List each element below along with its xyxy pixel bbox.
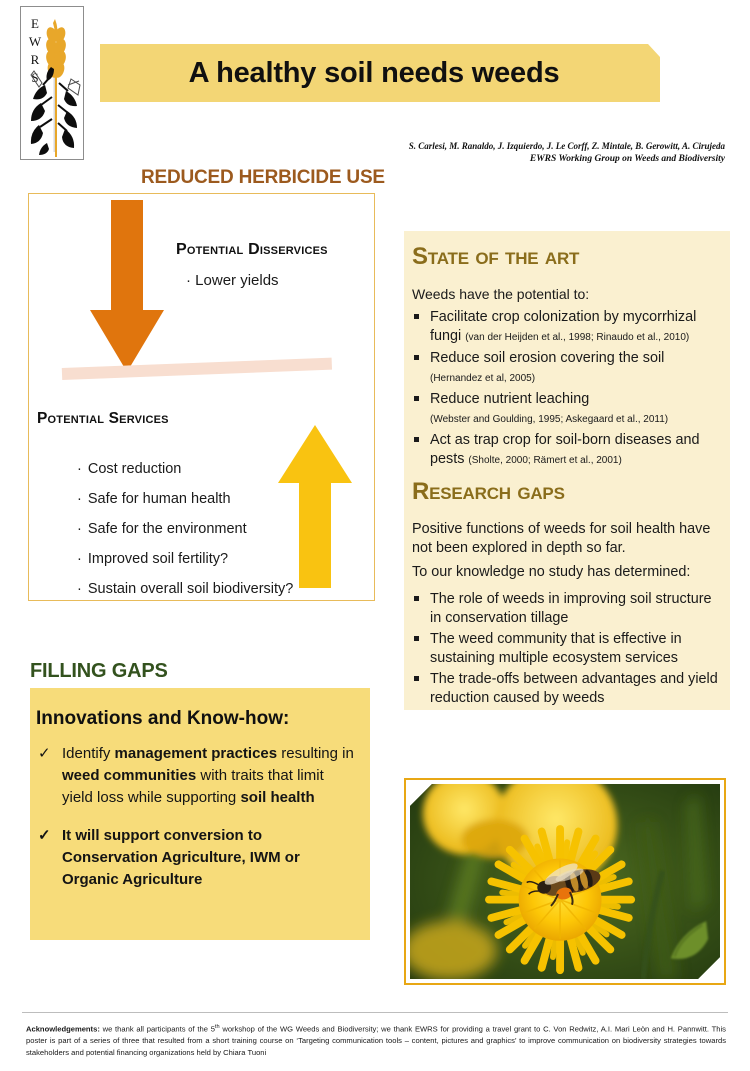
- square-bullet-icon: [414, 355, 419, 360]
- reduced-herbicide-heading: REDUCED HERBICIDE USE: [141, 167, 385, 189]
- check-icon: ✓: [38, 825, 51, 847]
- acknowledgements: Acknowledgements: we thank all participa…: [26, 1022, 726, 1058]
- bullet-dot: ·: [77, 581, 82, 597]
- bullet-dot: ·: [77, 551, 82, 567]
- service-text: Cost reduction: [88, 461, 182, 477]
- research-gaps-list: The role of weeds in improving soil stru…: [412, 590, 724, 710]
- bullet-dot: ·: [77, 491, 82, 507]
- state-of-the-art-list: Facilitate crop colonization by mycorrhi…: [412, 308, 724, 472]
- potential-services-title: Potential Services: [37, 410, 169, 428]
- author-names: S. Carlesi, M. Ranaldo, J. Izquierdo, J.…: [380, 140, 725, 153]
- bullet-dot: ·: [186, 272, 195, 289]
- list-item: The weed community that is effective in …: [412, 630, 724, 668]
- list-item: Act as trap crop for soil-born diseases …: [412, 431, 724, 470]
- square-bullet-icon: [414, 596, 419, 601]
- list-item: ✓ Identify management practices resultin…: [36, 743, 354, 809]
- item-text: The trade-offs between advantages and yi…: [430, 671, 718, 706]
- dandelion-photo: [410, 784, 720, 979]
- item-text: It will support conversion to Conservati…: [62, 827, 300, 888]
- list-item: Reduce soil erosion covering the soil(He…: [412, 349, 724, 388]
- square-bullet-icon: [414, 676, 419, 681]
- item-text: Reduce soil erosion covering the soil: [430, 350, 664, 366]
- ewrs-logo: E W R S: [20, 6, 84, 160]
- poster-root: E W R S: [0, 0, 750, 1071]
- item-text: The role of weeds in improving soil stru…: [430, 591, 712, 626]
- square-bullet-icon: [414, 396, 419, 401]
- filling-gaps-heading: FILLING GAPS: [30, 660, 168, 683]
- footer-divider: [22, 1012, 728, 1013]
- item-text: Reduce nutrient leaching: [430, 391, 589, 407]
- item-citation: (Webster and Goulding, 1995; Askegaard e…: [430, 414, 668, 425]
- page-title: A healthy soil needs weeds: [100, 44, 648, 102]
- list-item: Reduce nutrient leaching(Webster and Gou…: [412, 390, 724, 429]
- bullet-dot: ·: [77, 461, 82, 477]
- check-icon: ✓: [38, 743, 51, 765]
- research-gaps-paragraph-2: To our knowledge no study has determined…: [412, 563, 727, 582]
- disservice-text: Lower yields: [195, 272, 278, 289]
- square-bullet-icon: [414, 636, 419, 641]
- list-item: ·Safe for the environment: [77, 514, 367, 544]
- square-bullet-icon: [414, 314, 419, 319]
- list-item: The trade-offs between advantages and yi…: [412, 670, 724, 708]
- dandelion-photo-frame: [404, 778, 726, 985]
- bee-on-dandelion-image: [410, 784, 720, 979]
- potential-disservices-title: Potential Disservices: [176, 241, 328, 259]
- arrow-down-icon: [84, 200, 170, 375]
- list-item: ·Improved soil fertility?: [77, 544, 367, 574]
- service-text: Safe for human health: [88, 491, 231, 507]
- item-text: The weed community that is effective in …: [430, 631, 682, 666]
- list-item: The role of weeds in improving soil stru…: [412, 590, 724, 628]
- innovations-list: ✓ Identify management practices resultin…: [36, 743, 354, 907]
- square-bullet-icon: [414, 437, 419, 442]
- potential-services-list: ·Cost reduction ·Safe for human health ·…: [37, 454, 367, 604]
- research-gaps-paragraph-1: Positive functions of weeds for soil hea…: [412, 520, 722, 558]
- state-of-the-art-heading: State of the art: [412, 243, 579, 271]
- item-citation: (van der Heijden et al., 1998; Rinaudo e…: [465, 332, 689, 343]
- list-item: Facilitate crop colonization by mycorrhi…: [412, 308, 724, 347]
- state-of-the-art-intro: Weeds have the potential to:: [412, 286, 589, 302]
- potential-disservices-item: · Lower yields: [186, 272, 279, 289]
- list-item: ·Safe for human health: [77, 484, 367, 514]
- service-text: Safe for the environment: [88, 521, 247, 537]
- working-group: EWRS Working Group on Weeds and Biodiver…: [380, 153, 725, 166]
- item-text: Identify management practices resulting …: [62, 745, 354, 806]
- list-item: ·Cost reduction: [77, 454, 367, 484]
- item-citation: (Sholte, 2000; Rämert et al., 2001): [468, 455, 621, 466]
- title-banner: A healthy soil needs weeds: [100, 44, 660, 102]
- service-text: Sustain overall soil biodiversity?: [88, 581, 294, 597]
- authors-block: S. Carlesi, M. Ranaldo, J. Izquierdo, J.…: [380, 140, 725, 166]
- bullet-dot: ·: [77, 521, 82, 537]
- list-item: ·Sustain overall soil biodiversity?: [77, 574, 367, 604]
- service-text: Improved soil fertility?: [88, 551, 228, 567]
- item-citation: (Hernandez et al, 2005): [430, 373, 535, 384]
- wheat-and-weeds-icon: [21, 7, 83, 159]
- research-gaps-heading: Research gaps: [412, 478, 565, 506]
- list-item: ✓ It will support conversion to Conserva…: [36, 825, 354, 891]
- innovations-title: Innovations and Know-how:: [36, 708, 289, 730]
